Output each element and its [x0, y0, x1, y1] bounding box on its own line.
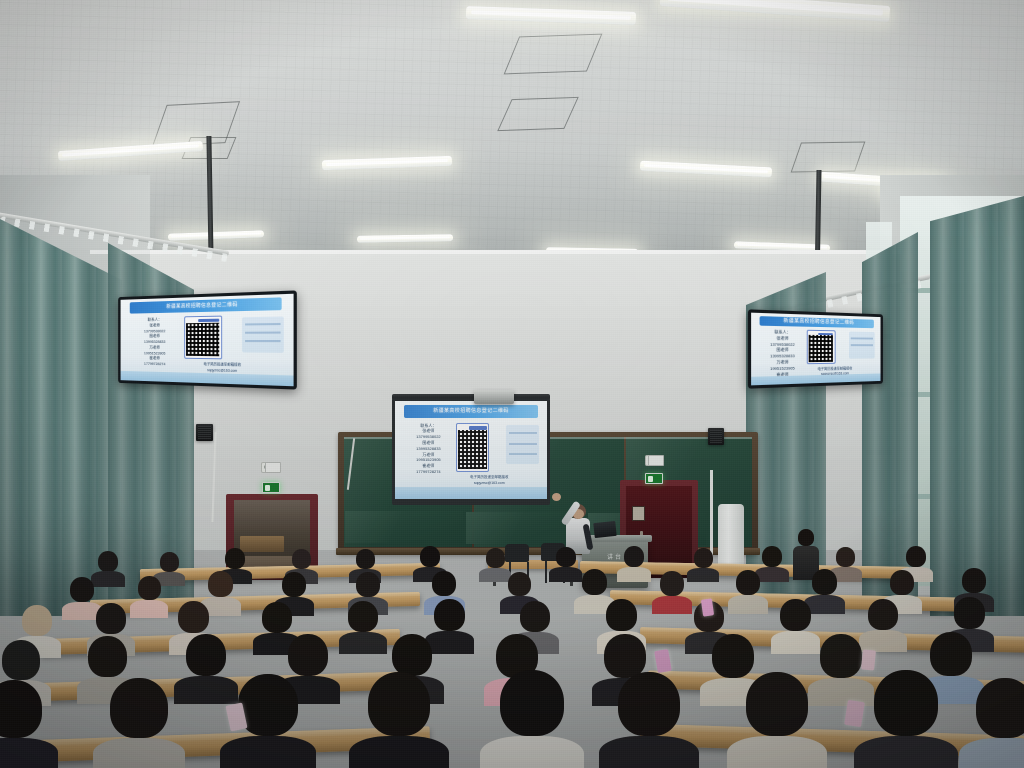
panel-line: [245, 332, 280, 334]
person-head: [868, 599, 898, 630]
person-shoulders: [220, 736, 316, 768]
projected-slide-side-panel: [506, 425, 539, 464]
audience-member-foreground: [110, 678, 202, 768]
panel-line: [245, 323, 280, 326]
person-shoulders: [771, 631, 820, 654]
person-head: [486, 548, 505, 568]
smartphone-screen[interactable]: [701, 598, 714, 616]
person-head: [356, 572, 380, 597]
person-head: [392, 634, 432, 676]
person-head: [356, 549, 375, 569]
left-slide-side-panel: [242, 316, 284, 353]
person-head: [282, 572, 306, 597]
exit-sign-icon-left: [262, 482, 280, 493]
right-qr-box: [807, 330, 835, 364]
person-head: [812, 569, 837, 595]
exit-sign-icon-right: [645, 473, 663, 484]
wall-outlet-plate-right[interactable]: [648, 455, 664, 466]
person-head: [520, 601, 550, 632]
laptop-on-podium: [593, 521, 616, 538]
smartphone-screen[interactable]: [861, 649, 876, 670]
person-head: [890, 570, 914, 595]
person-head: [22, 605, 52, 636]
person-head: [962, 568, 986, 593]
panel-line: [509, 453, 537, 455]
person-head: [178, 601, 209, 633]
projected-slide-title: 新疆某高校招聘信息登记二维码: [404, 405, 538, 418]
presenter-hand: [552, 493, 561, 501]
audience-member-foreground: [746, 672, 846, 768]
ceiling-hatch: [504, 34, 603, 75]
panel-line: [509, 432, 537, 434]
person-head: [660, 571, 684, 596]
left-display[interactable]: 新疆某高校招聘信息登记二维码 联系人： 张老师 13799538022 图老师 …: [118, 290, 297, 389]
person-head: [694, 548, 713, 568]
wall-speaker-left: [196, 424, 213, 441]
person-head: [138, 576, 161, 600]
person-head: [2, 640, 40, 680]
panel-line: [851, 345, 873, 347]
person-shoulders: [349, 736, 449, 768]
person-head: [420, 546, 440, 567]
audience-member-foreground: [618, 672, 718, 768]
right-display[interactable]: 新疆某高校招聘信息登记二维码 联系人： 张老师 13799538022 图老师 …: [748, 309, 883, 388]
projected-slide: 新疆某高校招聘信息登记二维码 联系人： 张老师 13799538022 图老师 …: [395, 401, 547, 499]
audience-member-foreground: [976, 678, 1024, 768]
person-head: [88, 636, 127, 677]
person-head: [976, 678, 1024, 738]
right-door-window: [632, 506, 645, 521]
ceiling-hatch: [791, 141, 866, 172]
right-slide-title: 新疆某高校招聘信息登记二维码: [760, 316, 874, 328]
lecture-hall-photo: 新疆某高校招聘信息登记二维码 联系人： 张老师 13799538022 图老师 …: [0, 0, 1024, 768]
person-head: [836, 547, 855, 567]
person-head: [762, 546, 782, 567]
left-slide-title: 新疆某高校招聘信息登记二维码: [130, 298, 282, 313]
person-shoulders: [652, 596, 692, 614]
person-head: [434, 599, 465, 631]
person-head: [292, 549, 311, 569]
person-head: [96, 603, 126, 634]
person-head: [368, 672, 430, 736]
person-head: [432, 571, 456, 596]
person-head: [582, 569, 607, 595]
person-shoulders: [599, 736, 699, 768]
person-head: [508, 572, 531, 596]
person-head: [906, 546, 926, 567]
person-shoulders: [0, 738, 58, 768]
person-head: [624, 546, 644, 567]
person-head: [70, 577, 94, 602]
person-head: [0, 680, 42, 738]
person-head: [288, 634, 328, 676]
projected-slide-contacts: 联系人： 张老师 13799538022 图老师 13995328833 万老师…: [406, 423, 452, 475]
right-display-screen: 新疆某高校招聘信息登记二维码 联系人： 张老师 13799538022 图老师 …: [751, 313, 880, 386]
panel-line: [245, 340, 280, 342]
left-qr-box: [184, 315, 222, 359]
left-slide: 新疆某高校招聘信息登记二维码 联系人： 张老师 13799538022 图老师 …: [121, 294, 294, 387]
person-head: [746, 672, 808, 736]
qr-code-icon: [809, 335, 833, 362]
projector: [474, 390, 514, 404]
person-head: [160, 552, 179, 572]
audience-member: [348, 601, 396, 654]
qr-code-icon: [458, 430, 487, 469]
projected-slide-footer: 电子简历投递至邮箱接收 sqqyzrsc@163.com: [441, 475, 538, 486]
person-head: [110, 678, 168, 738]
person-head: [262, 602, 292, 633]
left-slide-contacts: 联系人： 张老师 13799538022 图老师 13995328833 万老师…: [131, 316, 179, 367]
audience-member-foreground: [368, 672, 468, 768]
projected-qr-box: [456, 423, 489, 472]
panel-line: [851, 337, 873, 339]
person-head: [500, 670, 564, 736]
audience-member: [736, 570, 776, 614]
person-head: [874, 670, 938, 736]
person-head: [556, 547, 576, 567]
person-head: [798, 529, 814, 546]
person-head: [606, 599, 637, 631]
wall-speaker-right: [708, 428, 724, 445]
audience-member-foreground: [238, 674, 334, 768]
audience-area: [0, 538, 1024, 768]
person-head: [780, 599, 811, 631]
projected-slide-bottom-bar: [395, 487, 547, 499]
audience-member: [624, 546, 658, 582]
projected-qr-caption-bar: [469, 426, 487, 430]
person-shoulders: [549, 567, 582, 582]
panel-line: [509, 443, 537, 445]
qr-code-icon: [186, 322, 219, 356]
audience-member-foreground: [500, 670, 604, 768]
left-display-screen: 新疆某高校招聘信息登记二维码 联系人： 张老师 13799538022 图老师 …: [121, 294, 294, 387]
projection-screen-bottom-bar: [392, 500, 550, 505]
person-shoulders: [480, 736, 584, 768]
person-head: [736, 570, 760, 595]
right-slide: 新疆某高校招聘信息登记二维码 联系人： 张老师 13799538022 图老师 …: [751, 313, 880, 386]
person-shoulders: [854, 736, 958, 768]
person-head: [954, 597, 985, 629]
person-shoulders: [479, 568, 511, 582]
person-head: [225, 548, 245, 569]
right-slide-side-panel: [849, 332, 875, 358]
person-shoulders: [93, 738, 185, 768]
person-shoulders: [727, 736, 827, 768]
person-head: [348, 601, 378, 632]
person-head: [98, 551, 118, 572]
person-head: [186, 634, 226, 676]
wall-outlet-plate-left[interactable]: [265, 462, 281, 473]
person-head: [618, 672, 680, 736]
person-shoulders: [959, 738, 1024, 768]
smartphone-screen[interactable]: [844, 700, 865, 727]
projection-screen-surface: 新疆某高校招聘信息登记二维码 联系人： 张老师 13799538022 图老师 …: [395, 401, 547, 499]
audience-member-foreground: [0, 680, 74, 768]
person-head: [208, 571, 233, 597]
